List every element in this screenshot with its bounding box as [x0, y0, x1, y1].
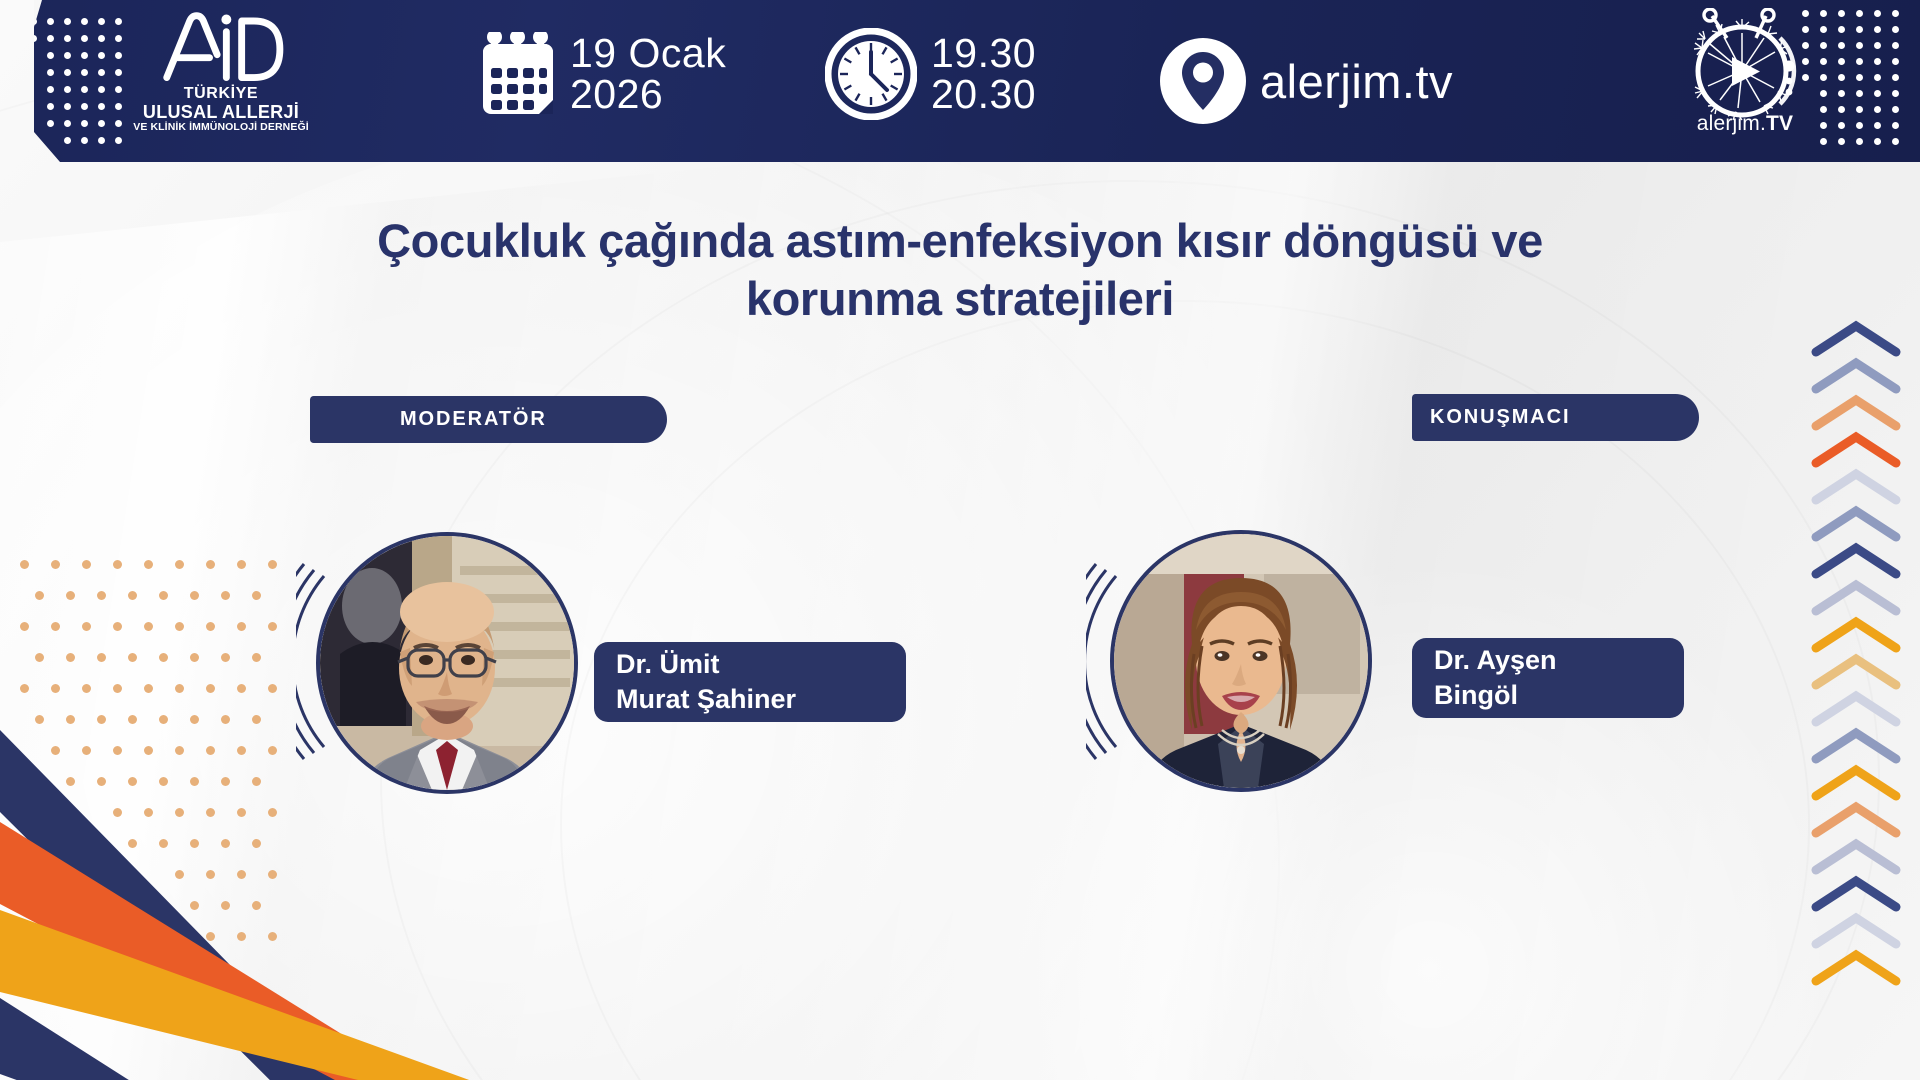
moderator-name-plate: Dr. Ümit Murat Şahiner: [594, 642, 906, 722]
event-date-text: 19 Ocak 2026: [570, 33, 726, 115]
alerjim-tv-logo-text: alerjim.TV: [1672, 112, 1818, 136]
speaker-name-plate: Dr. Ayşen Bingöl: [1412, 638, 1684, 718]
event-location-block[interactable]: alerjim.tv: [1160, 38, 1453, 124]
moderator-role-badge: MODERATÖR: [310, 396, 667, 443]
aid-logo-line3: VE KLİNİK İMMÜNOLOJİ DERNEĞİ: [133, 122, 308, 134]
chevron-pattern-decoration: [1810, 320, 1920, 1020]
page-title-line2: korunma stratejileri: [180, 270, 1740, 328]
page-title-line1: Çocukluk çağında astım-enfeksiyon kısır …: [180, 212, 1740, 270]
header-dot-grid-left: [30, 18, 126, 146]
speaker-name-line2: Bingöl: [1434, 678, 1662, 713]
speaker-photo: [1110, 530, 1372, 792]
speaker-name-line1: Dr. Ayşen: [1434, 643, 1662, 678]
aid-logo-line1: TÜRKİYE: [184, 86, 258, 103]
speaker-role-label: KONUŞMACI: [1430, 406, 1570, 429]
event-time-line1: 19.30: [931, 30, 1036, 76]
map-pin-icon: [1160, 38, 1246, 124]
alerjim-tv-logo-text-bold: TV: [1766, 112, 1793, 135]
event-header-bar: TÜRKİYE ULUSAL ALLERJİ VE KLİNİK İMMÜNOL…: [0, 0, 1920, 162]
page-title: Çocukluk çağında astım-enfeksiyon kısır …: [180, 212, 1740, 329]
event-date-line2: 2026: [570, 74, 726, 115]
header-dot-grid-right: [1802, 10, 1910, 150]
moderator-name-line2: Murat Şahiner: [616, 682, 884, 717]
speaker-role-badge: KONUŞMACI: [1412, 394, 1699, 441]
event-time-block: 19.30 20.30: [825, 28, 1036, 120]
event-date-block: 19 Ocak 2026: [480, 32, 726, 116]
poster-canvas: TÜRKİYE ULUSAL ALLERJİ VE KLİNİK İMMÜNOL…: [0, 0, 1920, 1080]
event-time-line2: 20.30: [931, 74, 1036, 115]
aid-monogram-icon: [156, 8, 286, 86]
alerjim-tv-brand-logo[interactable]: alerjim.TV: [1672, 8, 1818, 156]
moderator-role-label: MODERATÖR: [400, 408, 547, 431]
event-time-text: 19.30 20.30: [931, 33, 1036, 115]
moderator-name-line1: Dr. Ümit: [616, 647, 884, 682]
clock-icon: [825, 28, 917, 120]
moderator-photo: [316, 532, 578, 794]
aid-logo-line2: ULUSAL ALLERJİ: [143, 103, 299, 122]
event-date-line1: 19 Ocak: [570, 30, 726, 76]
dot-field-decoration: [20, 560, 300, 980]
aid-association-logo: TÜRKİYE ULUSAL ALLERJİ VE KLİNİK İMMÜNOL…: [126, 8, 316, 154]
event-location-text: alerjim.tv: [1260, 54, 1453, 109]
calendar-icon: [480, 32, 556, 116]
alerjim-tv-logo-text-light: alerjim.: [1697, 112, 1766, 135]
